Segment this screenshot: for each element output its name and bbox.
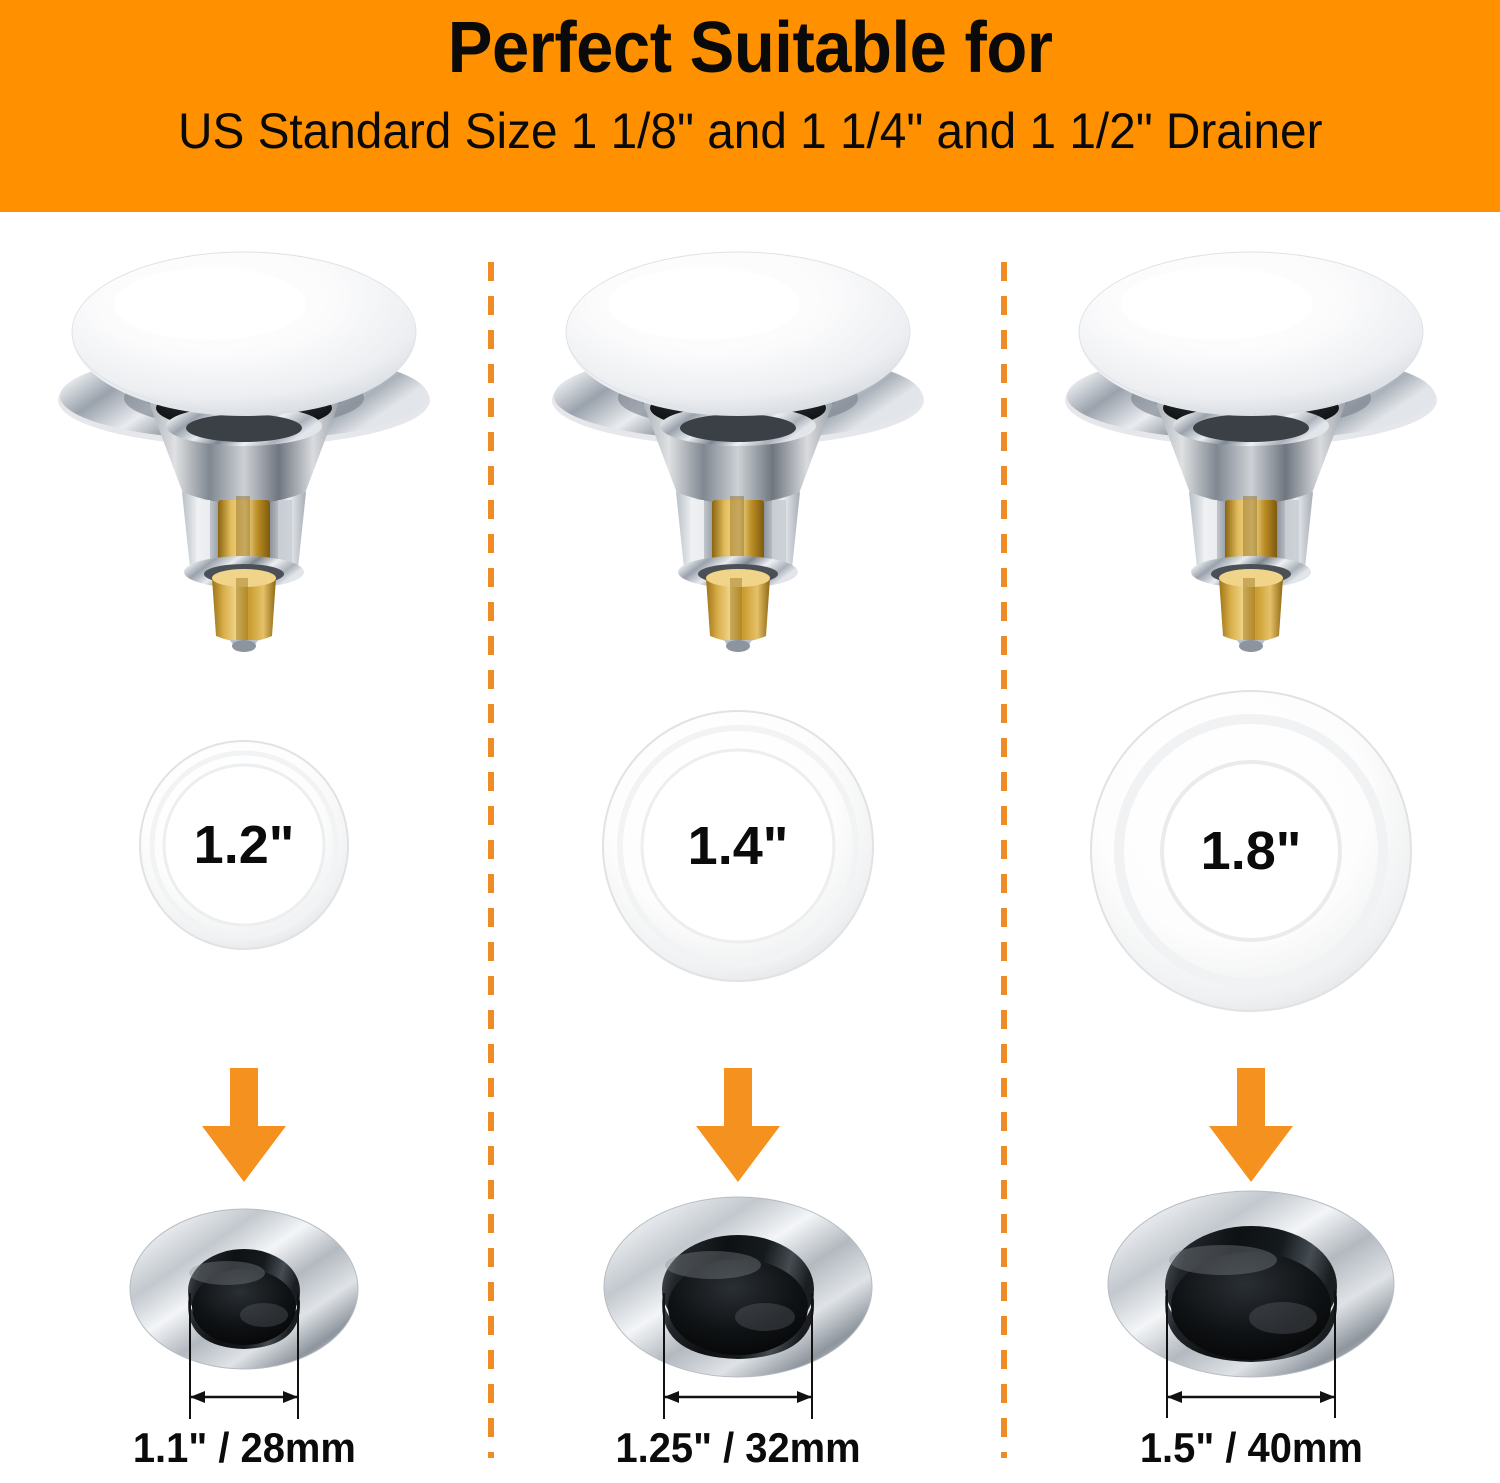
product-photo-wrap — [0, 248, 488, 668]
dimension-arrow-icon — [119, 1375, 369, 1419]
down-arrow-icon — [200, 1068, 288, 1184]
infographic-page: Perfect Suitable for US Standard Size 1 … — [0, 0, 1500, 1483]
drain-stopper-image — [44, 248, 444, 668]
dimension-callout: 1.25" / 32mm — [494, 1375, 982, 1472]
silicone-ring-wrap: 1.4" — [494, 710, 982, 982]
dimension-arrow-icon — [593, 1375, 883, 1419]
silicone-ring-wrap: 1.8" — [1007, 690, 1495, 1012]
header-banner: Perfect Suitable for US Standard Size 1 … — [0, 0, 1500, 212]
size-column-medium: 1.4" — [494, 212, 982, 1483]
drain-stopper-image — [1051, 248, 1451, 668]
down-arrow-icon — [694, 1068, 782, 1184]
product-photo-wrap — [494, 248, 982, 668]
silicone-ring-wrap: 1.2" — [0, 740, 488, 950]
size-column-small: 1.2" — [0, 212, 488, 1483]
dimension-callout: 1.5" / 40mm — [1007, 1375, 1495, 1472]
page-subtitle: US Standard Size 1 1/8" and 1 1/4" and 1… — [178, 106, 1323, 156]
arrow-wrap — [1007, 1068, 1495, 1189]
silicone-ring: 1.8" — [1090, 690, 1412, 1012]
dimension-label: 1.1" / 28mm — [133, 1424, 356, 1472]
size-column-large: 1.8" — [1007, 212, 1495, 1483]
dimension-callout: 1.1" / 28mm — [0, 1375, 488, 1472]
ring-size-label: 1.8" — [1201, 820, 1302, 882]
down-arrow-icon — [1207, 1068, 1295, 1184]
arrow-wrap — [0, 1068, 488, 1189]
page-title: Perfect Suitable for — [448, 12, 1053, 84]
silicone-ring: 1.2" — [139, 740, 349, 950]
product-photo-wrap — [1007, 248, 1495, 668]
drain-stopper-image — [538, 248, 938, 668]
ring-size-label: 1.4" — [688, 815, 789, 877]
dimension-arrow-icon — [1101, 1375, 1401, 1419]
dimension-label: 1.25" / 32mm — [615, 1424, 860, 1472]
silicone-ring: 1.4" — [602, 710, 874, 982]
arrow-wrap — [494, 1068, 982, 1189]
ring-size-label: 1.2" — [194, 814, 295, 876]
dimension-label: 1.5" / 40mm — [1140, 1424, 1363, 1472]
